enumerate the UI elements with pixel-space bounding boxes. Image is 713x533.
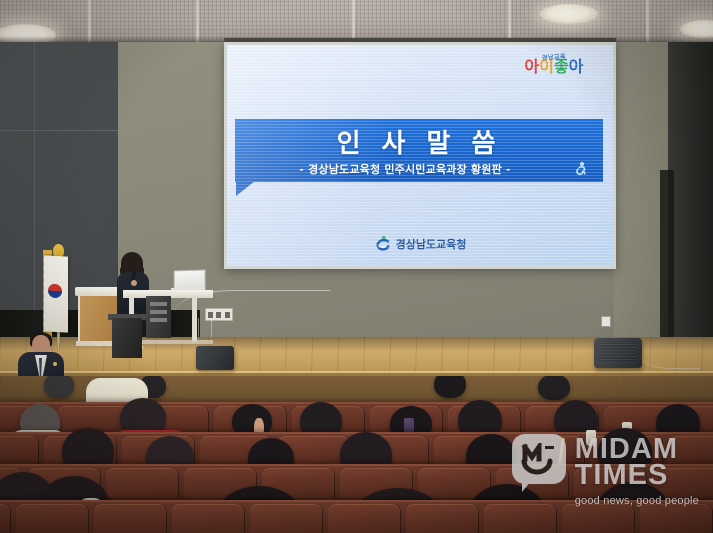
presenter-hand bbox=[131, 280, 137, 286]
auditorium-seat bbox=[0, 504, 10, 533]
auditorium-seat bbox=[406, 504, 478, 533]
av-equipment-tower bbox=[112, 318, 142, 358]
audience-head bbox=[434, 376, 466, 398]
auditorium-seat bbox=[484, 504, 556, 533]
watermark-brand-line-2: TIMES bbox=[575, 462, 699, 489]
watermark: MIDAM TIMES good news, good people bbox=[512, 434, 699, 507]
campaign-logo-char-4: 아 bbox=[569, 60, 584, 76]
seated-figure-icon bbox=[573, 161, 589, 177]
wall-dark-recess bbox=[660, 170, 674, 364]
campaign-logo-char-2: 이 bbox=[539, 60, 554, 76]
taeguk-symbol bbox=[48, 284, 62, 299]
presentation-slide: 경남교육 아 이 좋 아 인 사 말 씀 - 경상남도교육청 민주시민교육과장 … bbox=[227, 45, 613, 266]
laptop bbox=[171, 270, 205, 292]
stage-monitor-speaker bbox=[196, 346, 234, 370]
auditorium-seat bbox=[640, 504, 712, 533]
slide-title: 인 사 말 씀 bbox=[235, 123, 603, 160]
auditorium-seat bbox=[94, 504, 166, 533]
campaign-logo-char-3: 좋 bbox=[554, 60, 569, 76]
auditorium-seat bbox=[328, 504, 400, 533]
projection-screen: 경남교육 아 이 좋 아 인 사 말 씀 - 경상남도교육청 민주시민교육과장 … bbox=[224, 42, 616, 269]
slide-banner-tail bbox=[236, 181, 255, 196]
av-equipment-rack bbox=[146, 296, 171, 338]
watermark-tagline: good news, good people bbox=[575, 495, 699, 507]
auditorium-seat bbox=[250, 504, 322, 533]
auditorium-seat bbox=[106, 468, 178, 498]
slide-banner: 인 사 말 씀 - 경상남도교육청 민주시민교육과장 황원판 - bbox=[235, 119, 603, 197]
campaign-logo: 경남교육 아 이 좋 아 bbox=[507, 52, 601, 92]
midam-times-logo-icon bbox=[512, 434, 566, 492]
stage-monitor-speaker bbox=[594, 338, 642, 368]
auditorium-photo: 경남교육 아 이 좋 아 인 사 말 씀 - 경상남도교육청 민주시민교육과장 … bbox=[0, 0, 713, 533]
av-desk-leg bbox=[192, 298, 197, 342]
wall-socket bbox=[601, 316, 611, 327]
official-lapel-badge bbox=[53, 362, 57, 366]
watermark-text: MIDAM TIMES good news, good people bbox=[575, 434, 699, 507]
slide-subtitle: - 경상남도교육청 민주시민교육과장 황원판 - bbox=[235, 161, 575, 177]
auditorium-seat bbox=[0, 436, 38, 466]
smartphone bbox=[404, 418, 414, 433]
slide-footer-logo: 경상남도교육청 bbox=[227, 235, 613, 252]
auditorium-seat bbox=[172, 504, 244, 533]
m-smile-glyph bbox=[521, 443, 557, 475]
auditorium-seat bbox=[562, 504, 634, 533]
office-of-education-icon bbox=[374, 235, 391, 252]
watermark-brand-line-1: MIDAM bbox=[575, 436, 699, 463]
auditorium-seat bbox=[16, 504, 88, 533]
ceiling-light bbox=[540, 4, 598, 24]
office-of-education-name: 경상남도교육청 bbox=[396, 236, 467, 252]
presenter-hair-top bbox=[121, 252, 143, 274]
wall-dark-strip bbox=[668, 42, 713, 364]
audience-head bbox=[44, 376, 74, 398]
korean-national-flag bbox=[44, 255, 68, 332]
audience-head bbox=[538, 376, 570, 400]
